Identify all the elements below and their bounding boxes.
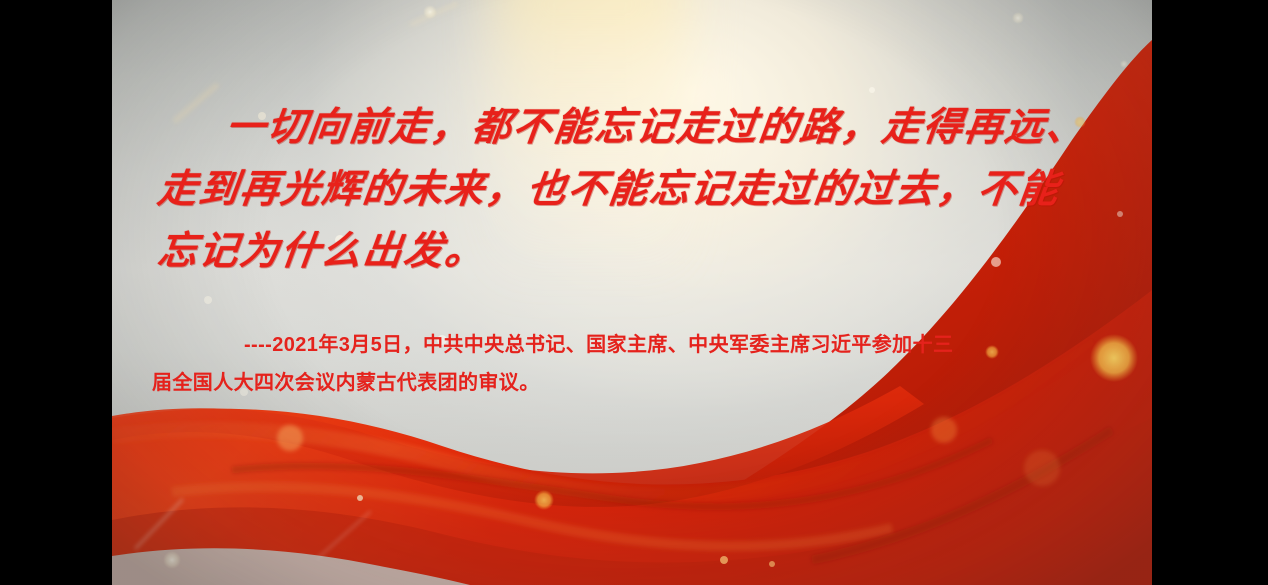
attribution-line-1: ----2021年3月5日，中共中央总书记、国家主席、中央军委主席习近平参加十三: [152, 326, 1112, 364]
attribution-line-2: 届全国人大四次会议内蒙古代表团的审议。: [152, 364, 1112, 402]
quote-block: 一切向前走，都不能忘记走过的路，走得再远、 走到再光辉的未来，也不能忘记走过的过…: [112, 96, 1152, 282]
letterbox-bar-left: [0, 0, 112, 585]
attribution-block: ----2021年3月5日，中共中央总书记、国家主席、中央军委主席习近平参加十三…: [112, 326, 1152, 402]
slide-stage: 一切向前走，都不能忘记走过的路，走得再远、 走到再光辉的未来，也不能忘记走过的过…: [0, 0, 1268, 585]
quote-line-2: 走到再光辉的未来，也不能忘记走过的过去，不能: [148, 158, 1116, 220]
letterbox-bar-right: [1152, 0, 1268, 585]
quote-line-3: 忘记为什么出发。: [148, 220, 1116, 282]
slide-content-area: 一切向前走，都不能忘记走过的路，走得再远、 走到再光辉的未来，也不能忘记走过的过…: [112, 0, 1152, 585]
quote-line-1: 一切向前走，都不能忘记走过的路，走得再远、: [148, 96, 1116, 158]
slide-text-layer: 一切向前走，都不能忘记走过的路，走得再远、 走到再光辉的未来，也不能忘记走过的过…: [112, 0, 1152, 585]
